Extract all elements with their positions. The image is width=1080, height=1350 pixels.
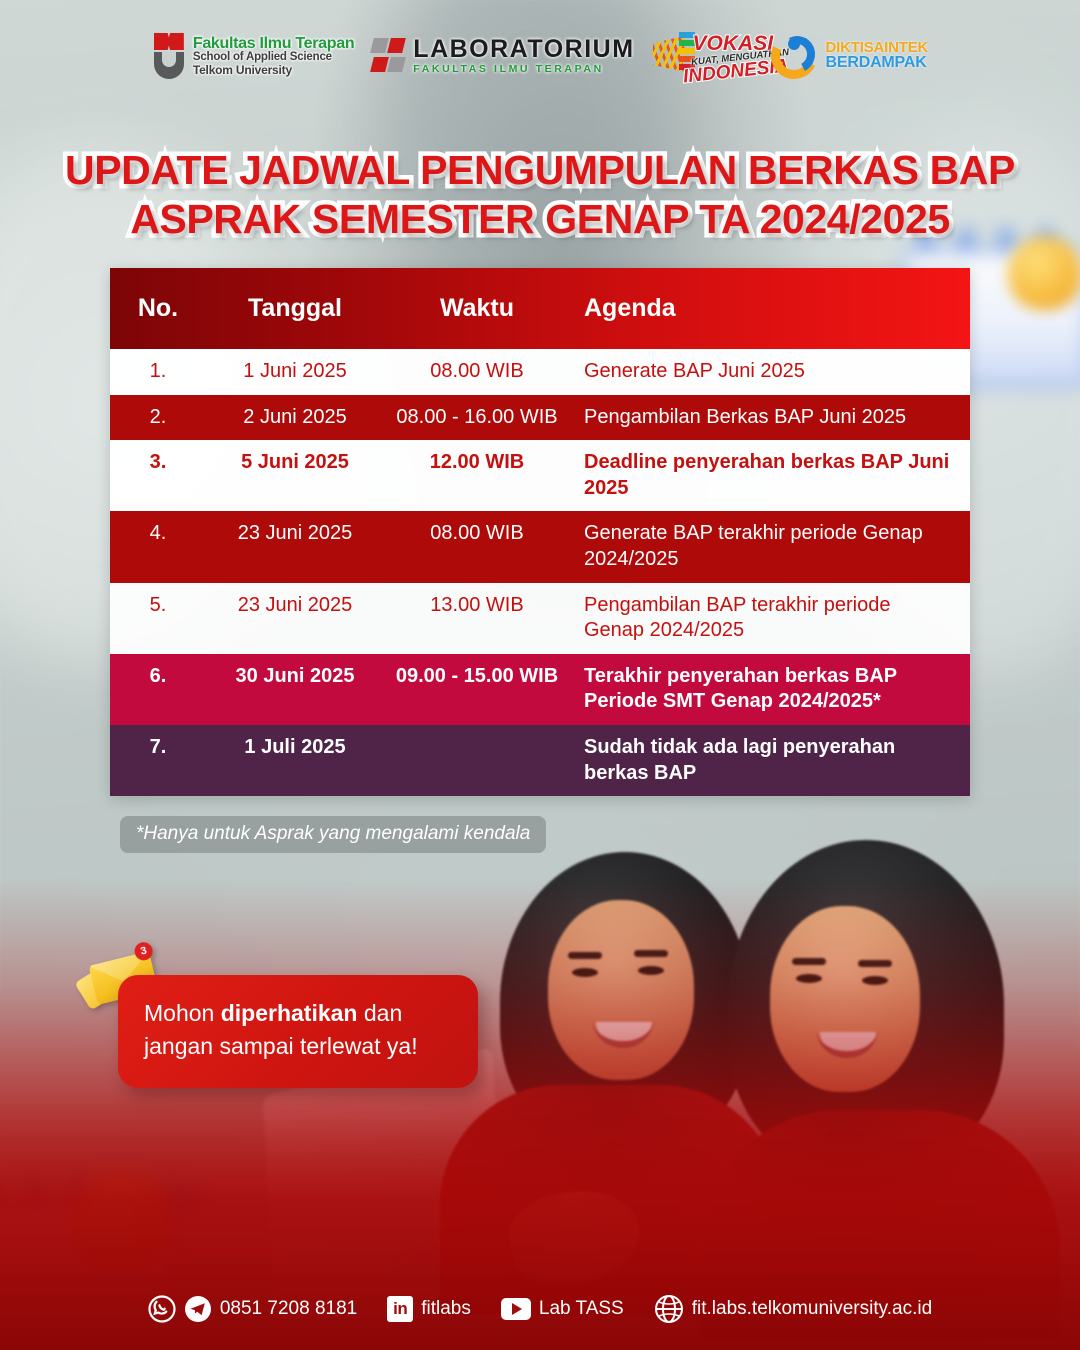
footer-linkedin: fitlabs	[421, 1298, 471, 1320]
title-line-1: UPDATE JADWAL PENGUMPULAN BERKAS BAP	[0, 146, 1080, 195]
column-header-agenda: Agenda	[570, 282, 970, 334]
row-waktu: 13.00 WIB	[384, 583, 570, 629]
row-agenda: Sudah tidak ada lagi penyerahan berkas B…	[570, 725, 970, 796]
whatsapp-icon[interactable]	[148, 1295, 176, 1323]
lab-logo-line1: LABORATORIUM	[413, 37, 634, 62]
table-row: 2.2 Juni 202508.00 - 16.00 WIBPengambila…	[110, 395, 970, 441]
row-no: 3.	[110, 440, 206, 486]
footer-youtube: Lab TASS	[539, 1298, 624, 1320]
bell-decoration-icon	[1008, 236, 1080, 310]
poster-canvas: Fakultas Ilmu Terapan School of Applied …	[0, 0, 1080, 1350]
row-tanggal: 1 Juni 2025	[206, 349, 384, 395]
table-row: 4.23 Juni 202508.00 WIBGenerate BAP tera…	[110, 511, 970, 582]
callout-text-bold: diperhatikan	[221, 1000, 358, 1026]
table-footnote: *Hanya untuk Asprak yang mengalami kenda…	[120, 816, 546, 853]
whatsapp-contact[interactable]: 0851 7208 8181	[148, 1295, 357, 1323]
table-row: 1.1 Juni 202508.00 WIBGenerate BAP Juni …	[110, 349, 970, 395]
row-tanggal: 1 Juli 2025	[206, 725, 384, 771]
lab-logo-line2: FAKULTAS ILMU TERAPAN	[413, 64, 634, 75]
row-tanggal: 23 Juni 2025	[206, 583, 384, 629]
youtube-contact[interactable]: Lab TASS	[501, 1298, 624, 1320]
row-waktu: 08.00 WIB	[384, 511, 570, 557]
row-tanggal: 5 Juni 2025	[206, 440, 384, 486]
dikti-logo-line2: BERDAMPAK	[826, 55, 929, 72]
row-agenda: Generate BAP Juni 2025	[570, 349, 970, 395]
footer-contact-bar: 0851 7208 8181 in fitlabs Lab TASS fit.l…	[0, 1294, 1080, 1324]
row-no: 4.	[110, 511, 206, 557]
reminder-callout: Mohon diperhatikan dan jangan sampai ter…	[118, 975, 478, 1088]
row-tanggal: 23 Juni 2025	[206, 511, 384, 557]
globe-icon[interactable]	[654, 1294, 684, 1324]
schedule-table: No. Tanggal Waktu Agenda 1.1 Juni 202508…	[110, 268, 970, 796]
linkedin-contact[interactable]: in fitlabs	[387, 1296, 471, 1322]
row-no: 2.	[110, 395, 206, 441]
telegram-icon[interactable]	[184, 1295, 212, 1323]
laboratorium-mark-icon	[372, 38, 406, 74]
table-header-row: No. Tanggal Waktu Agenda	[110, 268, 970, 349]
row-waktu: 09.00 - 15.00 WIB	[384, 654, 570, 700]
row-no: 7.	[110, 725, 206, 771]
row-no: 5.	[110, 583, 206, 629]
title-line-2: ASPRAK SEMESTER GENAP TA 2024/2025	[0, 195, 1080, 244]
table-row: 5.23 Juni 202513.00 WIBPengambilan BAP t…	[110, 583, 970, 654]
row-agenda: Pengambilan Berkas BAP Juni 2025	[570, 395, 970, 441]
footer-website: fit.labs.telkomuniversity.ac.id	[692, 1298, 932, 1320]
row-waktu	[384, 725, 570, 745]
logo-laboratorium: LABORATORIUM FAKULTAS ILMU TERAPAN	[372, 37, 634, 75]
linkedin-icon[interactable]: in	[387, 1296, 413, 1322]
row-waktu: 08.00 - 16.00 WIB	[384, 395, 570, 441]
row-waktu: 08.00 WIB	[384, 349, 570, 395]
row-tanggal: 30 Juni 2025	[206, 654, 384, 700]
row-tanggal: 2 Juni 2025	[206, 395, 384, 441]
column-header-waktu: Waktu	[384, 282, 570, 334]
table-row: 7.1 Juli 2025Sudah tidak ada lagi penyer…	[110, 725, 970, 796]
callout-text-before: Mohon	[144, 1000, 221, 1026]
row-no: 6.	[110, 654, 206, 700]
logo-vokasi: VOKASI KUAT, MENGUATKAN INDONESIA	[653, 30, 753, 82]
row-no: 1.	[110, 349, 206, 395]
column-header-tanggal: Tanggal	[206, 282, 384, 334]
row-agenda: Terakhir penyerahan berkas BAP Periode S…	[570, 654, 970, 725]
fit-logo-line3: Telkom University	[193, 64, 354, 76]
row-agenda: Deadline penyerahan berkas BAP Juni 2025	[570, 440, 970, 511]
logo-bar: Fakultas Ilmu Terapan School of Applied …	[0, 30, 1080, 82]
logo-fakultas-ilmu-terapan: Fakultas Ilmu Terapan School of Applied …	[152, 33, 354, 79]
row-agenda: Pengambilan BAP terakhir periode Genap 2…	[570, 583, 970, 654]
row-agenda: Generate BAP terakhir periode Genap 2024…	[570, 511, 970, 582]
table-row: 6.30 Juni 202509.00 - 15.00 WIBTerakhir …	[110, 654, 970, 725]
footer-phone: 0851 7208 8181	[220, 1298, 357, 1320]
website-contact[interactable]: fit.labs.telkomuniversity.ac.id	[654, 1294, 932, 1324]
youtube-icon[interactable]	[501, 1298, 531, 1320]
logo-diktisaintek: DIKTISAINTEK BERDAMPAK	[771, 33, 929, 79]
telkom-university-crest-icon	[152, 33, 186, 79]
column-header-no: No.	[110, 282, 206, 334]
table-row: 3.5 Juni 202512.00 WIBDeadline penyeraha…	[110, 440, 970, 511]
row-waktu: 12.00 WIB	[384, 440, 570, 486]
diktisaintek-swoosh-icon	[771, 33, 817, 79]
table-body: 1.1 Juni 202508.00 WIBGenerate BAP Juni …	[110, 349, 970, 796]
page-title: UPDATE JADWAL PENGUMPULAN BERKAS BAP ASP…	[0, 146, 1080, 244]
fit-logo-line1: Fakultas Ilmu Terapan	[193, 36, 354, 52]
